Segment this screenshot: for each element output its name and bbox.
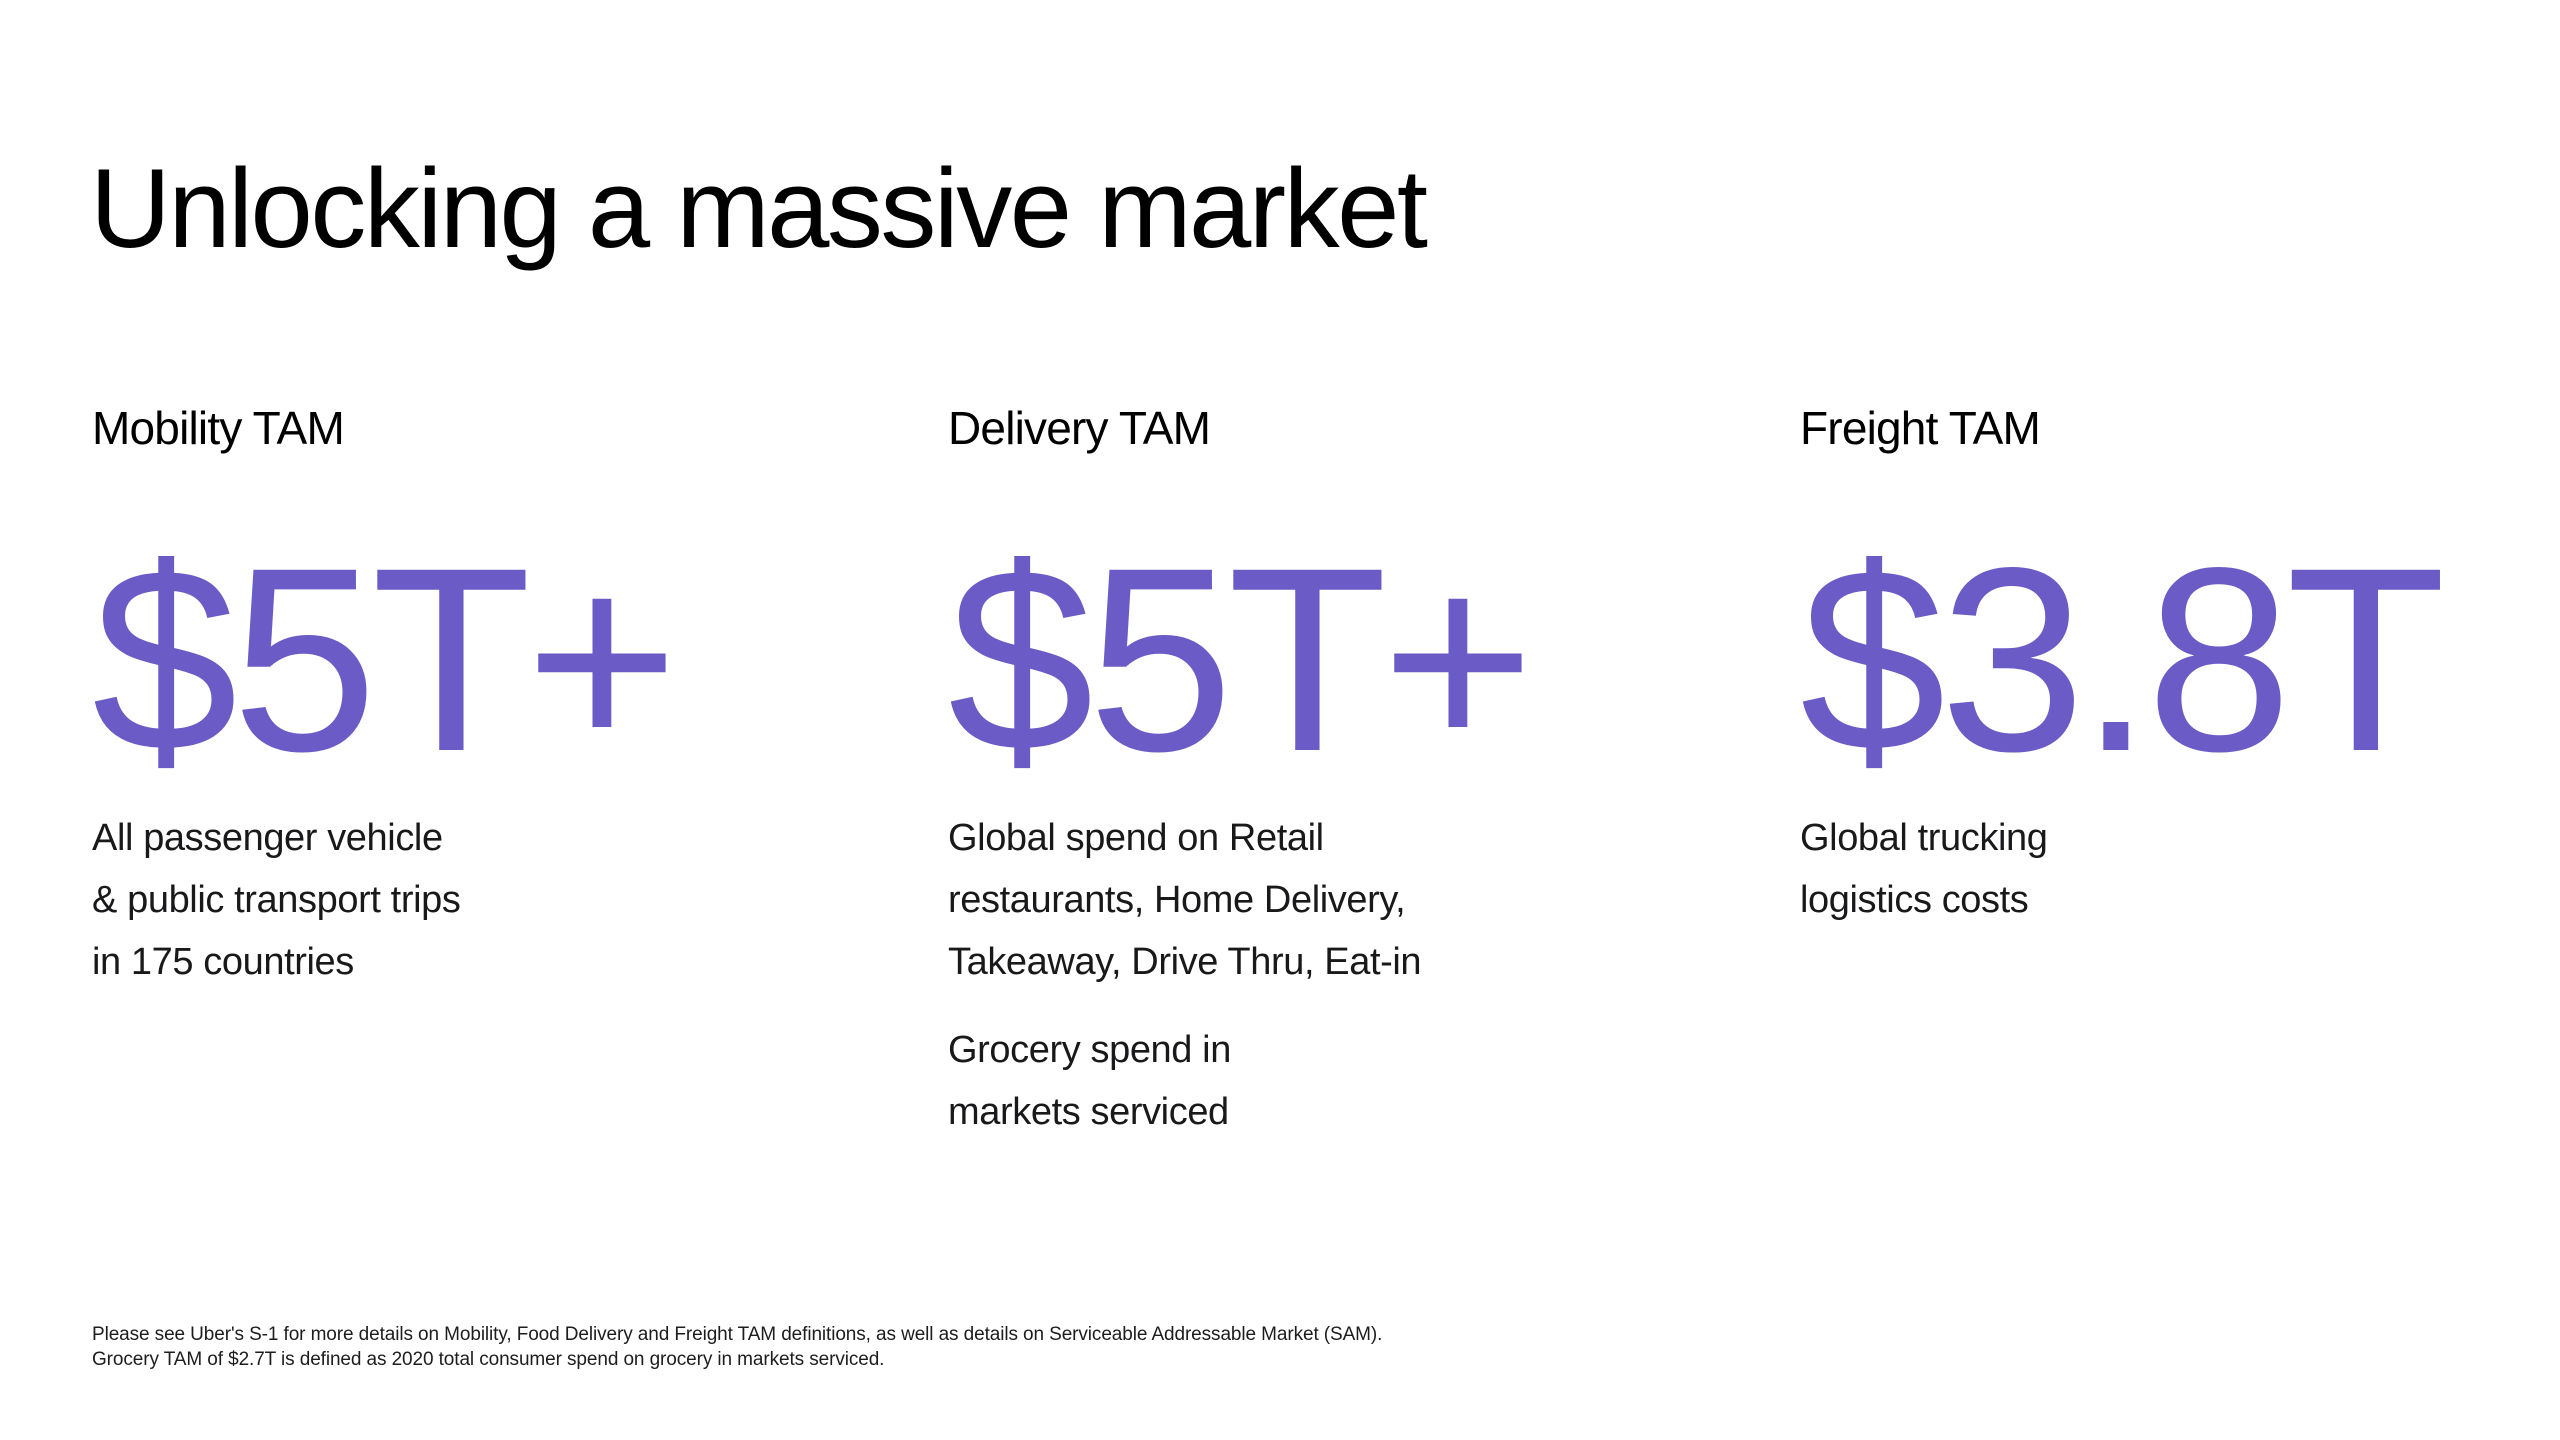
- tam-column-delivery: Delivery TAM $5T+ Global spend on Retail…: [948, 405, 1748, 1143]
- column-heading: Freight TAM: [1800, 405, 2560, 457]
- body-line: in 175 countries: [92, 931, 892, 993]
- body-block: Grocery spend in markets serviced: [948, 1019, 1748, 1143]
- footnote-line: Grocery TAM of $2.7T is defined as 2020 …: [92, 1347, 1382, 1372]
- body-block: Global spend on Retail restaurants, Home…: [948, 807, 1748, 993]
- slide-root: Unlocking a massive market Mobility TAM …: [0, 0, 2560, 1440]
- body-line: Takeaway, Drive Thru, Eat-in: [948, 931, 1748, 993]
- footnote-line: Please see Uber's S-1 for more details o…: [92, 1322, 1382, 1347]
- body-line: & public transport trips: [92, 869, 892, 931]
- body-block: All passenger vehicle & public transport…: [92, 807, 892, 993]
- body-line: markets serviced: [948, 1081, 1748, 1143]
- tam-columns: Mobility TAM $5T+ All passenger vehicle …: [0, 405, 2560, 1185]
- tam-column-freight: Freight TAM $3.8T Global trucking logist…: [1800, 405, 2560, 931]
- column-heading: Delivery TAM: [948, 405, 1748, 457]
- footnote: Please see Uber's S-1 for more details o…: [92, 1322, 1382, 1372]
- body-block: Global trucking logistics costs: [1800, 807, 2560, 931]
- body-line: Grocery spend in: [948, 1019, 1748, 1081]
- page-title: Unlocking a massive market: [90, 153, 1426, 265]
- body-line: Global spend on Retail: [948, 807, 1748, 869]
- column-figure: $5T+: [92, 457, 892, 759]
- column-figure: $5T+: [948, 457, 1748, 759]
- body-line: restaurants, Home Delivery,: [948, 869, 1748, 931]
- tam-column-mobility: Mobility TAM $5T+ All passenger vehicle …: [92, 405, 892, 993]
- column-body: Global spend on Retail restaurants, Home…: [948, 759, 1748, 1143]
- body-line: Global trucking: [1800, 807, 2560, 869]
- column-heading: Mobility TAM: [92, 405, 892, 457]
- body-line: All passenger vehicle: [92, 807, 892, 869]
- column-figure: $3.8T: [1800, 457, 2560, 759]
- body-line: logistics costs: [1800, 869, 2560, 931]
